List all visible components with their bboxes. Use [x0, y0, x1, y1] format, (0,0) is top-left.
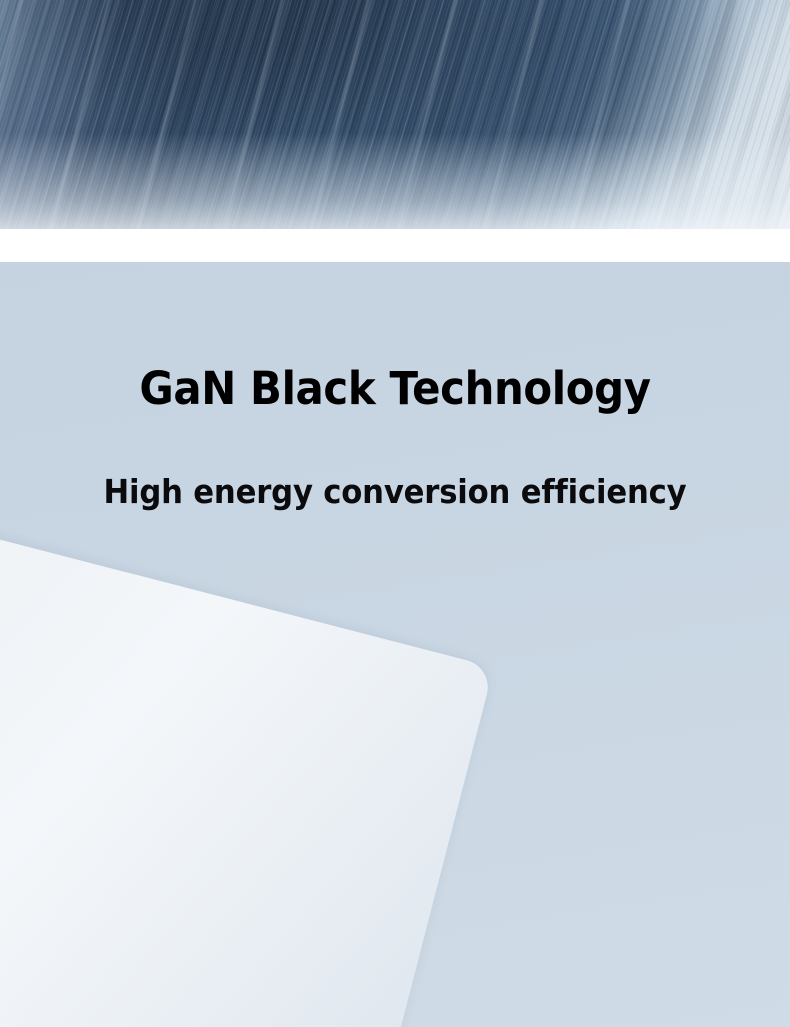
product-detail-page: GaN Black Technology High energy convers… — [0, 0, 790, 1027]
device-face-sheen — [0, 462, 494, 1027]
hero-banner-image — [0, 0, 790, 229]
page-subtitle: High energy conversion efficiency — [28, 411, 763, 508]
page-title: GaN Black Technology — [28, 262, 763, 411]
hero-glow-overlay — [0, 0, 790, 229]
headline-block: GaN Black Technology High energy convers… — [0, 262, 790, 508]
feature-section: GaN Black Technology High energy convers… — [0, 262, 790, 1027]
section-separator — [0, 229, 790, 262]
